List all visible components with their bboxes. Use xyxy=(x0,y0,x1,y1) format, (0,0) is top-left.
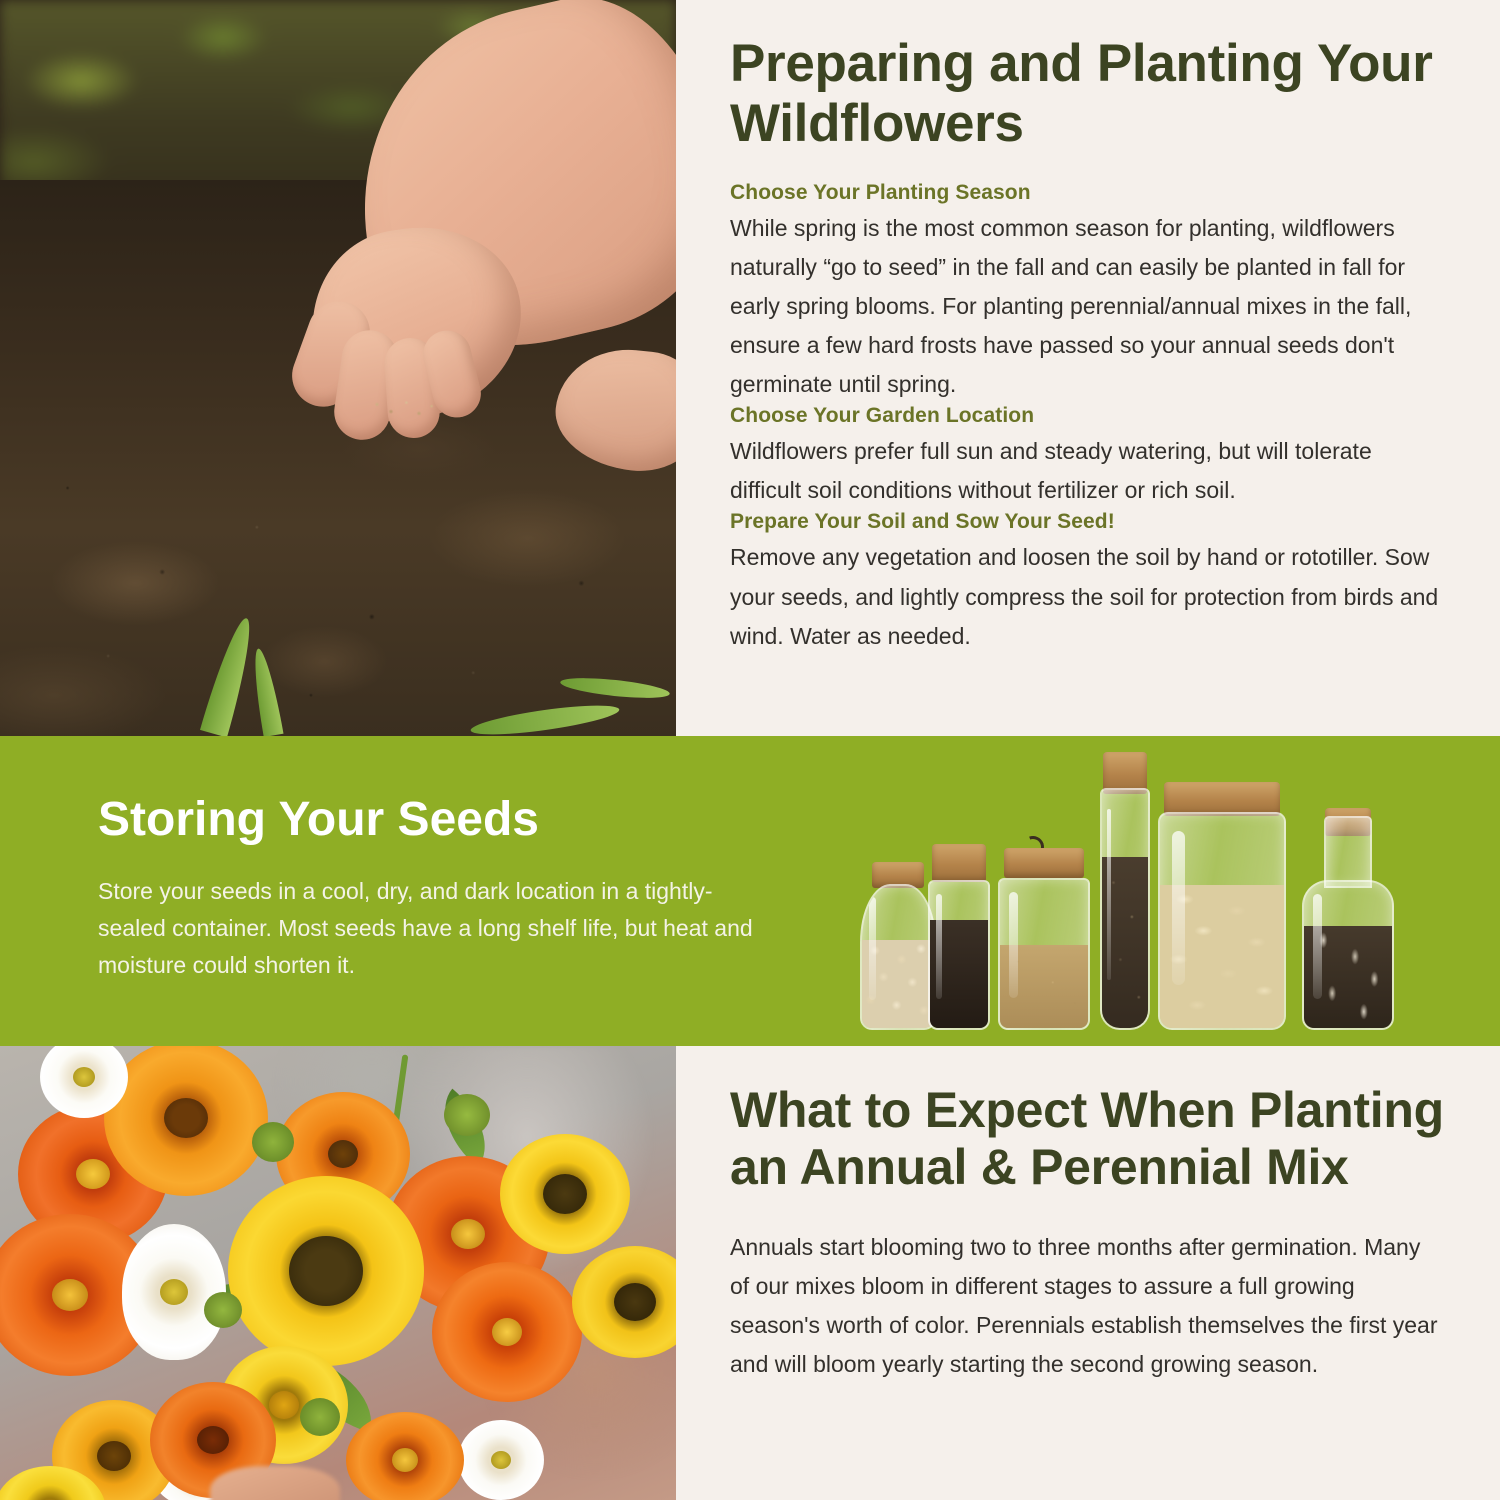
storing-seeds-title: Storing Your Seeds xyxy=(98,794,758,847)
flower-center xyxy=(614,1283,656,1321)
flower-center xyxy=(328,1140,358,1168)
jar-tan-seeds xyxy=(998,840,1090,1030)
orange-zinnia xyxy=(432,1262,582,1402)
bouquet-of-zinnias-sunflowers-and-cosmos-photo xyxy=(0,1046,676,1500)
sunflower xyxy=(228,1176,424,1366)
petals xyxy=(300,1398,340,1436)
jar-pumpkin-seeds xyxy=(1158,782,1286,1030)
storing-seeds-body: Store your seeds in a cool, dry, and dar… xyxy=(98,873,758,985)
jar-sunflower-seeds xyxy=(1302,808,1394,1030)
flower-center xyxy=(97,1441,131,1471)
bottom-text-column: What to Expect When Planting an Annual &… xyxy=(676,1046,1500,1500)
what-to-expect-title: What to Expect When Planting an Annual &… xyxy=(730,1082,1444,1196)
subhead-planting-season: Choose Your Planting Season xyxy=(730,181,1444,205)
top-text-column: Preparing and Planting Your Wildflowers … xyxy=(676,0,1500,736)
flower-center xyxy=(451,1219,485,1249)
flower-bud xyxy=(444,1094,490,1136)
yellow-orange-zinnia xyxy=(104,1046,268,1196)
flower-center xyxy=(160,1279,188,1305)
glass-highlight xyxy=(869,897,876,999)
seeds-in-palm xyxy=(370,390,440,426)
flower-bud xyxy=(204,1292,242,1328)
flower-center xyxy=(73,1067,95,1087)
white-cosmos xyxy=(122,1224,226,1360)
petals xyxy=(444,1094,490,1136)
section-what-to-expect: What to Expect When Planting an Annual &… xyxy=(0,1046,1500,1500)
hand-holding-bouquet xyxy=(210,1466,340,1500)
glass-highlight xyxy=(1313,894,1322,999)
flower-center xyxy=(543,1174,587,1214)
glass-highlight xyxy=(1107,809,1112,980)
petals xyxy=(252,1122,294,1162)
subhead-garden-location: Choose Your Garden Location xyxy=(730,404,1444,428)
green-band-text: Storing Your Seeds Store your seeds in a… xyxy=(98,794,758,985)
white-cosmos xyxy=(458,1420,544,1500)
jar-dark-seeds-tall-tube xyxy=(1100,752,1150,1030)
flower-center xyxy=(491,1451,511,1469)
flower-center xyxy=(52,1279,88,1311)
glass-neck xyxy=(1324,816,1372,888)
glass-body xyxy=(998,878,1090,1030)
sunflower xyxy=(500,1134,630,1254)
glass-body xyxy=(1158,812,1286,1030)
flower-center xyxy=(492,1318,522,1346)
orange-zinnia xyxy=(346,1412,464,1500)
infographic-page: Preparing and Planting Your Wildflowers … xyxy=(0,0,1500,1500)
jar-white-beans xyxy=(860,862,936,1030)
page-title: Preparing and Planting Your Wildflowers xyxy=(730,34,1444,155)
cork-stopper xyxy=(1004,848,1084,878)
block-prepare-soil: Prepare Your Soil and Sow Your Seed! Rem… xyxy=(730,510,1444,655)
jar-black-seeds xyxy=(928,844,990,1030)
glass-highlight xyxy=(1009,892,1018,999)
glass-body xyxy=(1100,788,1150,1030)
block-garden-location: Choose Your Garden Location Wildflowers … xyxy=(730,404,1444,510)
flower-center xyxy=(289,1236,363,1306)
body-garden-location: Wildflowers prefer full sun and steady w… xyxy=(730,432,1444,510)
cork-stopper xyxy=(1164,782,1280,816)
body-prepare-soil: Remove any vegetation and loosen the soi… xyxy=(730,538,1444,655)
section-storing-your-seeds: Storing Your Seeds Store your seeds in a… xyxy=(0,736,1500,1046)
glass-highlight xyxy=(1172,831,1184,985)
glass-highlight xyxy=(936,894,942,999)
hands-sowing-seeds-in-soil-photo xyxy=(0,0,676,736)
flower-center xyxy=(392,1448,418,1472)
flower-center xyxy=(76,1159,110,1189)
glass-body xyxy=(928,880,990,1030)
subhead-prepare-soil: Prepare Your Soil and Sow Your Seed! xyxy=(730,510,1444,534)
flower-bud xyxy=(252,1122,294,1162)
flower-center xyxy=(269,1391,299,1419)
what-to-expect-body: Annuals start blooming two to three mont… xyxy=(730,1228,1444,1384)
petals xyxy=(204,1292,242,1328)
flower-bud xyxy=(300,1398,340,1436)
body-planting-season: While spring is the most common season f… xyxy=(730,209,1444,404)
flower-center xyxy=(197,1426,229,1454)
block-planting-season: Choose Your Planting Season While spring… xyxy=(730,181,1444,404)
flower-center xyxy=(164,1098,208,1138)
glass-body xyxy=(1302,880,1394,1030)
glass-body xyxy=(860,884,936,1030)
section-preparing-and-planting: Preparing and Planting Your Wildflowers … xyxy=(0,0,1500,736)
cork-stopper xyxy=(932,844,986,882)
glass-jars-of-seeds-photo xyxy=(850,754,1470,1046)
